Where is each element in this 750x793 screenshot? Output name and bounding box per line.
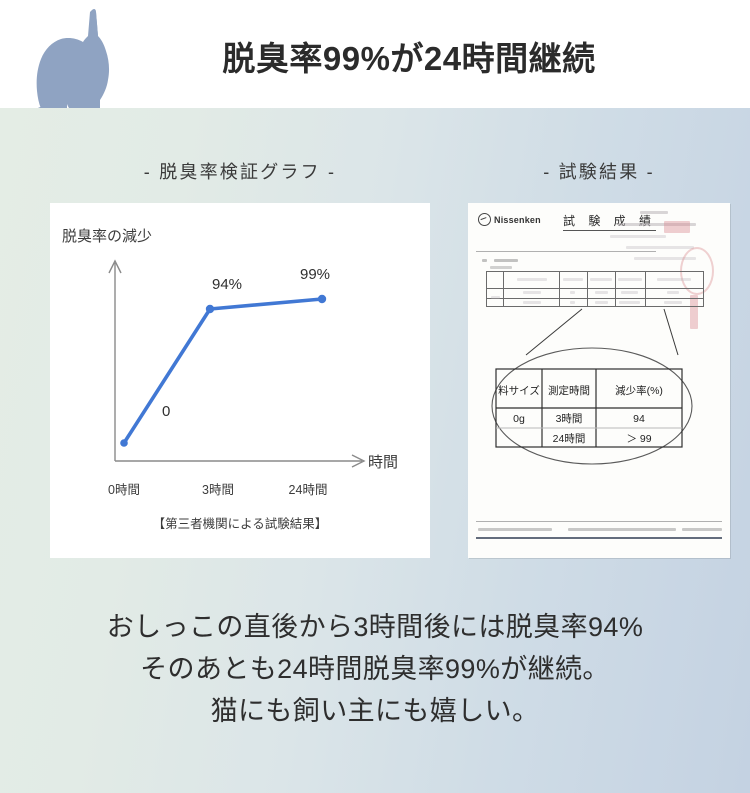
- table-header-cell: [563, 278, 583, 281]
- chart-point-label-2: 99%: [300, 266, 330, 283]
- table-col-divider: [559, 272, 560, 306]
- chart-point-1: [206, 305, 214, 313]
- certificate-footnote: [478, 528, 552, 531]
- chart-point-label-1: 94%: [212, 276, 242, 293]
- mag-header-rate: 減少率(%): [596, 379, 682, 401]
- bottom-copy-line-2: そのあとも24時間脱臭率99%が継続。: [0, 648, 750, 690]
- table-data-cell: [619, 301, 640, 304]
- certificate-red-stamp: [664, 221, 690, 233]
- certificate-blur-line: [626, 246, 694, 249]
- certificate-section-label: [494, 259, 518, 262]
- mag-header-size: 料サイズ: [496, 379, 542, 401]
- certificate-subsection-label: [490, 266, 512, 269]
- certificate-divider: [476, 521, 722, 522]
- table-row-divider: [487, 288, 703, 289]
- table-data-cell: [667, 291, 679, 294]
- bottom-copy-line-1: おしっこの直後から3時間後には脱臭率94%: [0, 606, 750, 648]
- certificate-doc-title: 試 験 成 績: [563, 212, 656, 231]
- chart-tick-label-1: 3時間: [188, 479, 248, 498]
- table-col-divider: [587, 272, 588, 306]
- table-row-divider: [487, 298, 703, 299]
- chart-point-2: [318, 295, 326, 303]
- table-data-cell: [523, 291, 541, 294]
- certificate-divider: [476, 251, 656, 252]
- table-header-cell: [590, 278, 612, 281]
- table-data-cell: [664, 301, 682, 304]
- table-col-divider: [615, 272, 616, 306]
- certificate-lab-name: Nissenken: [494, 215, 541, 225]
- mag-cell-time-r2: 24時間: [542, 429, 596, 448]
- mag-header-time: 測定時間: [542, 379, 596, 401]
- page-title: 脱臭率99%が24時間継続: [0, 32, 750, 80]
- chart-canvas: [50, 203, 430, 558]
- certificate-lab-logo: Nissenken: [478, 213, 541, 226]
- table-col-divider: [645, 272, 646, 306]
- deodorization-chart-panel: 脱臭率の減少 時間 0 94% 99% 0時間 3時間 24時間 【第三者機関に…: [50, 203, 430, 558]
- chart-point-label-0: 0: [162, 403, 170, 420]
- test-certificate-panel: Nissenken 試 験 成 績: [468, 203, 730, 558]
- table-row-index: [491, 296, 500, 299]
- mag-cell-time-r1: 3時間: [542, 409, 596, 428]
- table-data-cell: [595, 291, 608, 294]
- bottom-copy-block: おしっこの直後から3時間後には脱臭率94% そのあとも24時間脱臭率99%が継続…: [0, 606, 750, 732]
- table-data-cell: [595, 301, 608, 304]
- chart-data-line: [124, 299, 322, 443]
- table-col-divider: [503, 272, 504, 306]
- table-data-cell: [523, 301, 541, 304]
- callout-line-right: [664, 309, 678, 355]
- graph-section-heading: - 脱臭率検証グラフ -: [50, 158, 430, 184]
- chart-tick-label-2: 24時間: [278, 479, 338, 498]
- page-header: 脱臭率99%が24時間継続: [0, 0, 750, 108]
- result-section-heading: - 試験結果 -: [468, 158, 730, 184]
- certificate-footnote: [568, 528, 676, 531]
- table-data-cell: [570, 291, 575, 294]
- table-header-cell: [618, 278, 642, 281]
- certificate-bottom-rule: [476, 537, 722, 539]
- mag-cell-rate-r1: 94: [596, 409, 682, 428]
- certificate-section-number: [482, 259, 487, 262]
- table-data-cell: [570, 301, 575, 304]
- certificate-blur-line: [640, 211, 668, 214]
- table-data-cell: [621, 291, 638, 294]
- mag-cell-size-r1: 0g: [496, 409, 542, 428]
- chart-point-0: [120, 439, 128, 447]
- nissenken-mark-icon: [478, 213, 491, 226]
- chart-tick-label-0: 0時間: [94, 479, 154, 498]
- chart-source-note: 【第三者機関による試験結果】: [50, 513, 430, 532]
- certificate-document: Nissenken 試 験 成 績: [468, 203, 730, 558]
- mag-cell-rate-r2: ＞ 99: [596, 429, 682, 448]
- table-header-cell: [517, 278, 547, 281]
- callout-line-left: [526, 309, 582, 355]
- certificate-blur-line: [610, 235, 666, 238]
- certificate-footnote: [682, 528, 722, 531]
- certificate-source-table: [486, 271, 704, 307]
- table-header-cell: [657, 278, 691, 281]
- bottom-copy-line-3: 猫にも飼い主にも嬉しい。: [0, 690, 750, 732]
